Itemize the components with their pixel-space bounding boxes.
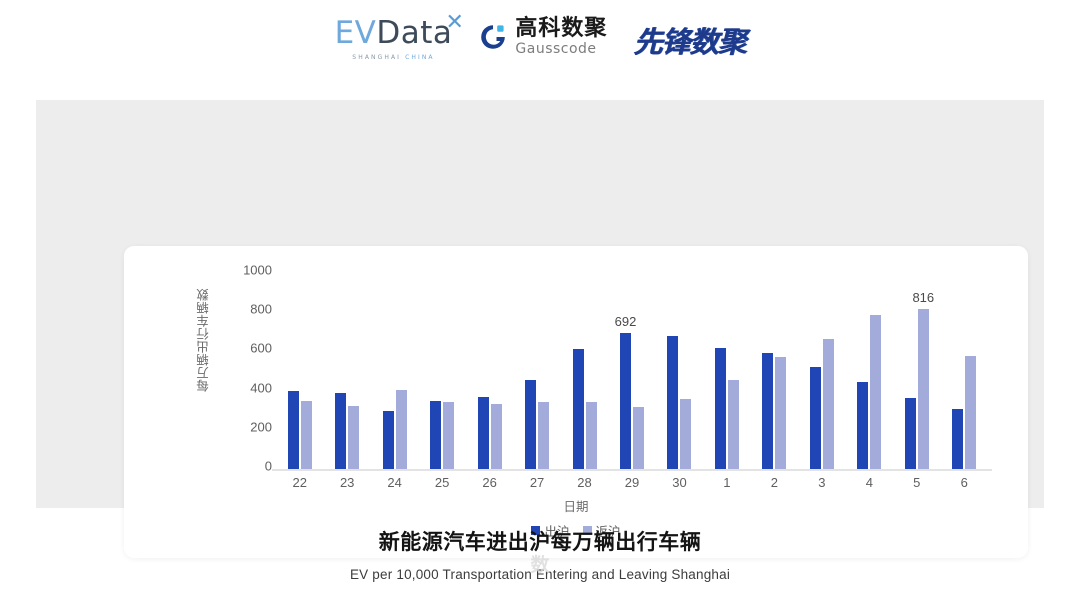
bar-chuhu[interactable]: [430, 401, 441, 469]
x-axis-title: 日期: [124, 496, 1028, 515]
bar-fanhu[interactable]: [775, 357, 786, 469]
bar-fanhu[interactable]: [965, 356, 976, 469]
evdata-tagline-city: SHANGHAI: [352, 54, 401, 61]
bar-group[interactable]: [418, 273, 465, 469]
x-tick-label: 29: [625, 476, 639, 489]
bar-fanhu[interactable]: [633, 407, 644, 469]
x-axis-ticks: 222324252627282930123456: [276, 476, 988, 494]
y-axis-title: 每万辆出行车辆数: [194, 288, 213, 392]
bar-value-label: 692: [615, 315, 637, 328]
xianfeng-logo: 先锋数聚: [633, 19, 745, 61]
bar-chuhu[interactable]: [905, 398, 916, 469]
chart-card: 每万辆出行车辆数 02004006008001000 692816 222324…: [124, 246, 1028, 558]
bar-fanhu[interactable]: [348, 406, 359, 470]
caption-title-cn: 新能源汽车进出沪每万辆出行车辆: [0, 530, 1080, 556]
evdata-tagline: SHANGHAI CHINA: [352, 54, 434, 61]
x-tick-label: 6: [961, 476, 968, 489]
bar-group[interactable]: [941, 273, 988, 469]
x-tick-label: 3: [818, 476, 825, 489]
bar-group[interactable]: [703, 273, 750, 469]
bar-group[interactable]: [798, 273, 845, 469]
bar-fanhu[interactable]: [918, 309, 929, 469]
bar-fanhu[interactable]: [823, 339, 834, 469]
bar-group[interactable]: [323, 273, 370, 469]
y-axis-ticks: 02004006008001000: [220, 270, 272, 470]
x-tick-label: 22: [292, 476, 306, 489]
bar-chuhu[interactable]: [525, 380, 536, 469]
bar-fanhu[interactable]: [443, 402, 454, 469]
y-tick-label: 800: [250, 303, 272, 316]
bar-chuhu[interactable]: [478, 397, 489, 469]
bar-group[interactable]: [561, 273, 608, 469]
bar-chuhu[interactable]: [810, 367, 821, 469]
x-tick-label: 26: [482, 476, 496, 489]
caption-block: 新能源汽车进出沪每万辆出行车辆 数 EV per 10,000 Transpor…: [0, 530, 1080, 582]
x-tick-label: 5: [913, 476, 920, 489]
gausscode-circle-icon: [478, 22, 508, 52]
evdata-logo: EVData ✕ SHANGHAI CHINA: [335, 18, 453, 61]
y-tick-label: 0: [265, 460, 272, 473]
x-axis-baseline: [272, 469, 992, 471]
y-tick-label: 600: [250, 342, 272, 355]
bar-group[interactable]: [608, 273, 655, 469]
bar-chuhu[interactable]: [857, 382, 868, 469]
evdata-prefix: EV: [335, 15, 377, 51]
bar-fanhu[interactable]: [870, 315, 881, 469]
bar-chuhu[interactable]: [952, 409, 963, 469]
bar-group[interactable]: [656, 273, 703, 469]
gausscode-logo: 高科数聚 Gausscode: [478, 18, 607, 56]
bar-fanhu[interactable]: [301, 401, 312, 469]
evdata-suffix: Data: [376, 15, 452, 51]
bar-group[interactable]: [513, 273, 560, 469]
bar-chuhu[interactable]: [383, 411, 394, 469]
bar-chuhu[interactable]: [715, 348, 726, 469]
y-tick-label: 400: [250, 381, 272, 394]
bar-fanhu[interactable]: [728, 380, 739, 469]
evdata-tagline-country: CHINA: [405, 54, 435, 61]
x-tick-label: 25: [435, 476, 449, 489]
x-tick-label: 1: [723, 476, 730, 489]
bar-fanhu[interactable]: [396, 390, 407, 469]
bar-group[interactable]: [276, 273, 323, 469]
chart-outer-panel: 每万辆出行车辆数 02004006008001000 692816 222324…: [36, 100, 1044, 508]
caption-subtitle-en: EV per 10,000 Transportation Entering an…: [0, 567, 1080, 582]
bar-fanhu[interactable]: [491, 404, 502, 469]
bar-group[interactable]: [846, 273, 893, 469]
x-mark-icon: ✕: [445, 12, 464, 34]
bar-chuhu[interactable]: [762, 353, 773, 469]
plot-area: 692816: [276, 273, 988, 469]
bar-value-label: 816: [912, 291, 934, 304]
bar-chuhu[interactable]: [620, 333, 631, 469]
gausscode-name-cn: 高科数聚: [515, 18, 607, 40]
bar-chuhu[interactable]: [335, 393, 346, 469]
x-tick-label: 23: [340, 476, 354, 489]
y-tick-label: 1000: [243, 264, 272, 277]
bar-chart: 每万辆出行车辆数 02004006008001000 692816 222324…: [124, 246, 1028, 558]
bar-chuhu[interactable]: [667, 336, 678, 469]
bar-chuhu[interactable]: [288, 391, 299, 469]
y-tick-label: 200: [250, 420, 272, 433]
evdata-wordmark: EVData ✕: [335, 18, 453, 49]
x-tick-label: 27: [530, 476, 544, 489]
x-tick-label: 24: [387, 476, 401, 489]
bar-chuhu[interactable]: [573, 349, 584, 469]
bar-group[interactable]: [751, 273, 798, 469]
x-tick-label: 30: [672, 476, 686, 489]
gausscode-name-en: Gausscode: [515, 42, 607, 56]
x-tick-label: 2: [771, 476, 778, 489]
bar-fanhu[interactable]: [586, 402, 597, 469]
bar-fanhu[interactable]: [538, 402, 549, 469]
bar-group[interactable]: [466, 273, 513, 469]
bar-fanhu[interactable]: [680, 399, 691, 469]
x-tick-label: 4: [866, 476, 873, 489]
logo-bar: EVData ✕ SHANGHAI CHINA 高科数聚 Gausscode 先…: [0, 18, 1080, 61]
x-tick-label: 28: [577, 476, 591, 489]
bar-group[interactable]: [371, 273, 418, 469]
